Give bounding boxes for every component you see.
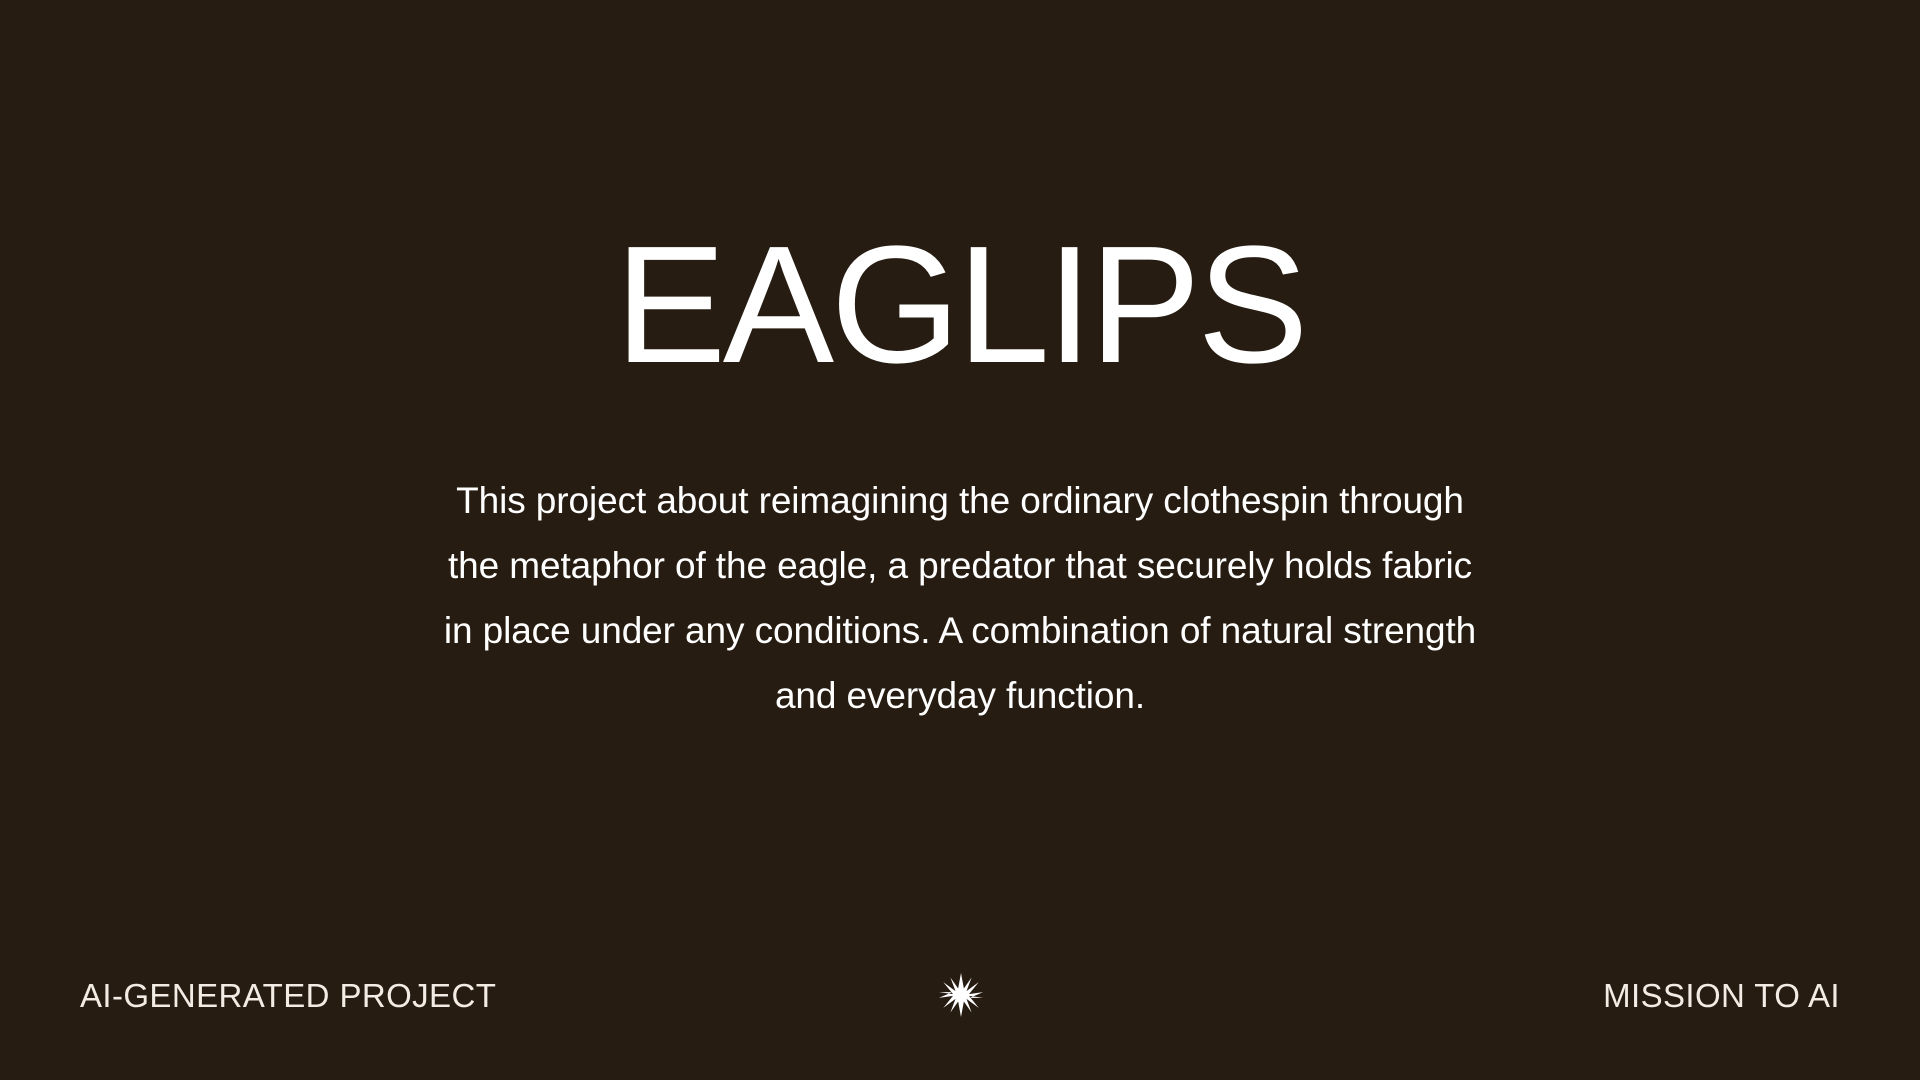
page-title: EAGLIPS — [0, 222, 1920, 389]
description-line-2: the metaphor of the eagle, a predator th… — [360, 533, 1560, 598]
description-line-4: and everyday function. — [360, 663, 1560, 728]
description-line-3: in place under any conditions. A combina… — [360, 598, 1560, 663]
footer-right-label: MISSION TO AI — [1603, 979, 1840, 1012]
description-line-1: This project about reimagining the ordin… — [360, 468, 1560, 533]
project-description: This project about reimagining the ordin… — [360, 468, 1560, 728]
sparkle-star-icon — [938, 972, 984, 1018]
slide-footer: AI-GENERATED PROJECT MISSION TO AI — [0, 910, 1920, 1080]
footer-left-label: AI-GENERATED PROJECT — [80, 979, 496, 1012]
presentation-slide: EAGLIPS This project about reimagining t… — [0, 0, 1920, 1080]
